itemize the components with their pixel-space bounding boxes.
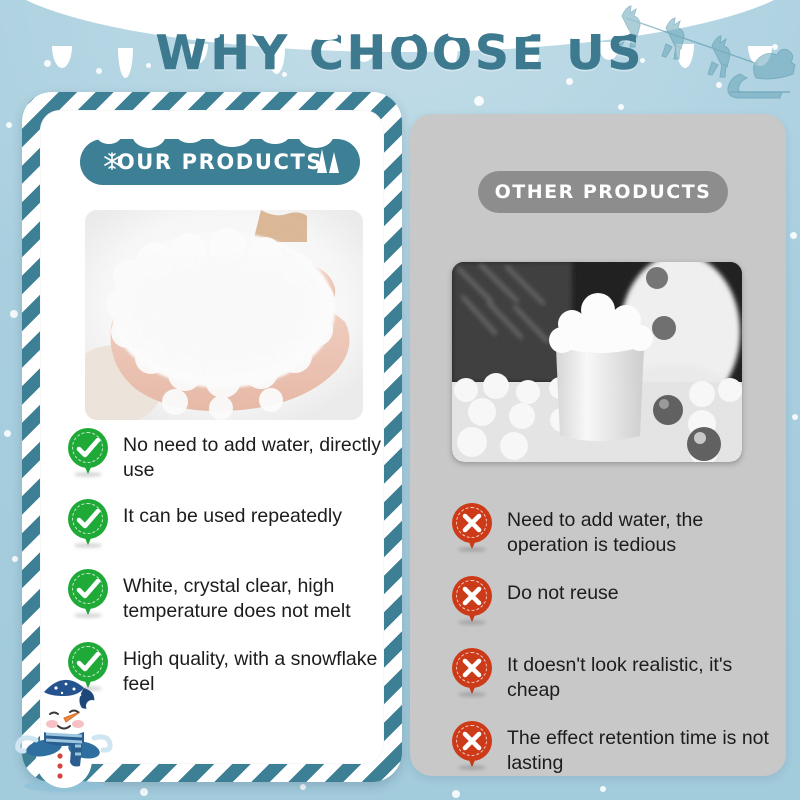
title-snow-cap: [448, 28, 474, 38]
list-item: Need to add water, the operation is tedi…: [450, 503, 780, 558]
check-icon: [66, 569, 110, 619]
our-products-photo: [85, 210, 363, 420]
list-item-label: White, crystal clear, high temperature d…: [123, 569, 386, 624]
our-products-badge: OUR PRODUCTS: [80, 139, 360, 185]
list-item: The effect retention time is not lasting: [450, 721, 780, 776]
snow-dot: [10, 310, 18, 318]
title-snow-cap: [312, 30, 338, 40]
list-item: It can be used repeatedly: [66, 499, 386, 549]
list-item-label: It doesn't look realistic, it's cheap: [507, 648, 780, 703]
snow-dot: [792, 414, 798, 420]
check-icon: [66, 428, 110, 478]
list-item: No need to add water, directly use: [66, 428, 386, 483]
cross-icon: [450, 503, 494, 553]
list-item-label: Do not reuse: [507, 576, 619, 606]
badge-snow-cap: [132, 134, 166, 148]
our-products-badge-label: OUR PRODUCTS: [117, 150, 323, 174]
cross-icon: [450, 721, 494, 771]
title-snow-cap: [192, 28, 220, 39]
check-icon: [66, 499, 110, 549]
list-item: Do not reuse: [450, 576, 780, 626]
title-snow-cap: [604, 26, 630, 36]
badge-snow-cap: [176, 134, 204, 143]
badge-snow-cap: [260, 134, 290, 144]
snow-dot: [12, 556, 18, 562]
snow-dot: [474, 96, 484, 106]
title-snow-cap: [508, 26, 532, 37]
badge-snow-cap: [298, 134, 334, 148]
snow-dot: [6, 122, 12, 128]
snow-dot: [300, 784, 306, 790]
list-item-label: Need to add water, the operation is tedi…: [507, 503, 780, 558]
badge-snow-cap: [212, 134, 252, 147]
cross-icon: [450, 576, 494, 626]
list-item-label: No need to add water, directly use: [123, 428, 386, 483]
title-snow-cap: [252, 26, 274, 36]
list-item: It doesn't look realistic, it's cheap: [450, 648, 780, 703]
snow-dot: [140, 788, 148, 796]
list-item-label: It can be used repeatedly: [123, 499, 342, 529]
title-snow-cap: [566, 30, 588, 39]
other-products-list: Need to add water, the operation is tedi…: [450, 503, 780, 794]
cross-icon: [450, 648, 494, 698]
list-item-label: The effect retention time is not lasting: [507, 721, 780, 776]
title-snow-cap: [384, 26, 414, 37]
snowman-icon: [8, 664, 120, 792]
list-item: White, crystal clear, high temperature d…: [66, 569, 386, 624]
poster-canvas: WHY CHOOSE US OUR PRODUCTS: [0, 0, 800, 800]
other-products-photo: [452, 262, 742, 462]
other-products-badge: OTHER PRODUCTS: [478, 171, 728, 213]
snow-dot: [4, 430, 11, 437]
snow-dot: [790, 232, 797, 239]
list-item-label: High quality, with a snowflake feel: [123, 642, 386, 697]
badge-snow-cap: [96, 134, 122, 144]
other-products-badge-label: OTHER PRODUCTS: [495, 181, 712, 203]
